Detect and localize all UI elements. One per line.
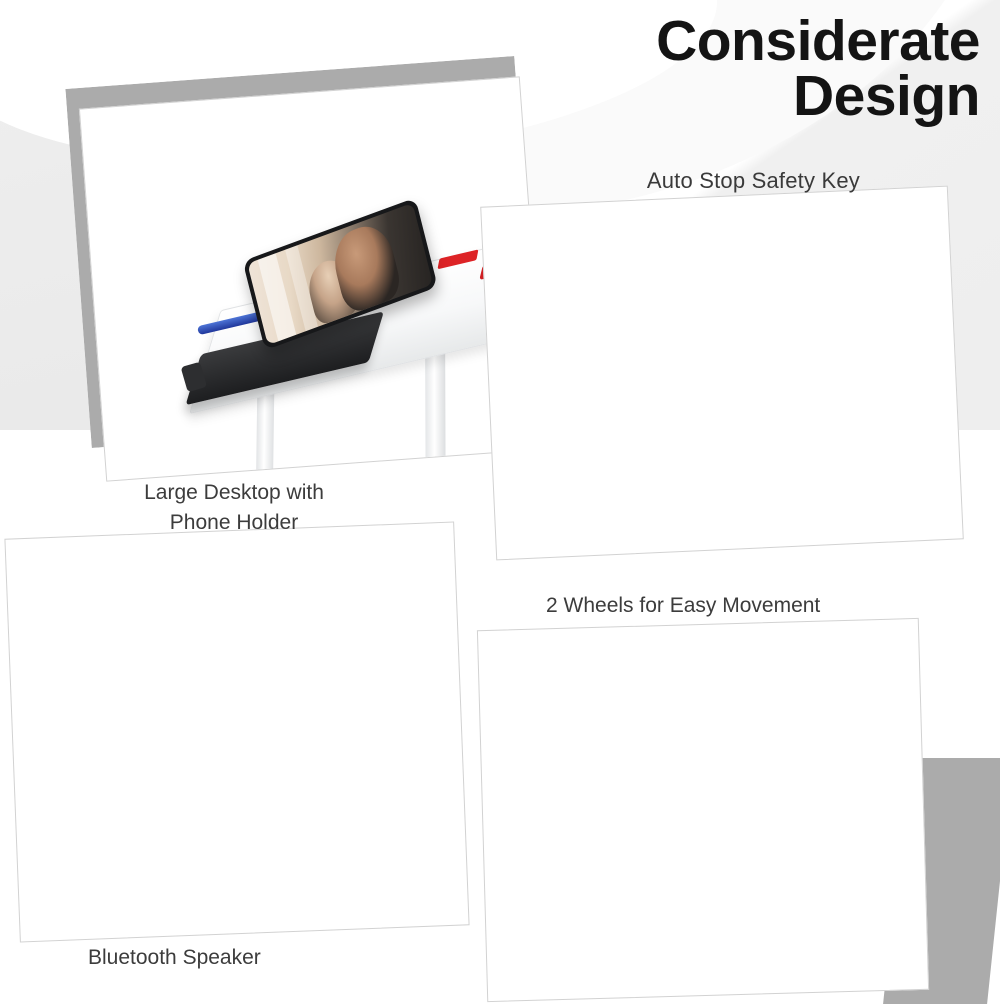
caption-large-desktop: Large Desktop with Phone Holder: [134, 478, 334, 538]
subtitle-auto-stop-safety-key: Auto Stop Safety Key: [647, 168, 860, 194]
caption-large-desktop-line-2: Phone Holder: [134, 508, 334, 538]
caption-wheels: 2 Wheels for Easy Movement: [546, 594, 820, 618]
caption-bluetooth-speaker: Bluetooth Speaker: [88, 946, 261, 970]
photo-large-desktop: [80, 77, 546, 480]
photo-panel-large-desktop: [79, 76, 547, 481]
page-title: Considerate Design: [360, 14, 980, 123]
title-line-1: Considerate: [360, 14, 980, 69]
photo-safety-key: [481, 187, 962, 560]
photo-panel-wheels: [477, 618, 929, 1002]
photo-panel-safety-key: [480, 186, 964, 561]
title-line-2: Design: [360, 69, 980, 124]
caption-large-desktop-line-1: Large Desktop with: [134, 478, 334, 508]
photo-panel-bluetooth-speaker: [4, 522, 469, 943]
photo-bluetooth-speaker: [5, 523, 468, 942]
photo-wheels: [478, 619, 928, 1001]
